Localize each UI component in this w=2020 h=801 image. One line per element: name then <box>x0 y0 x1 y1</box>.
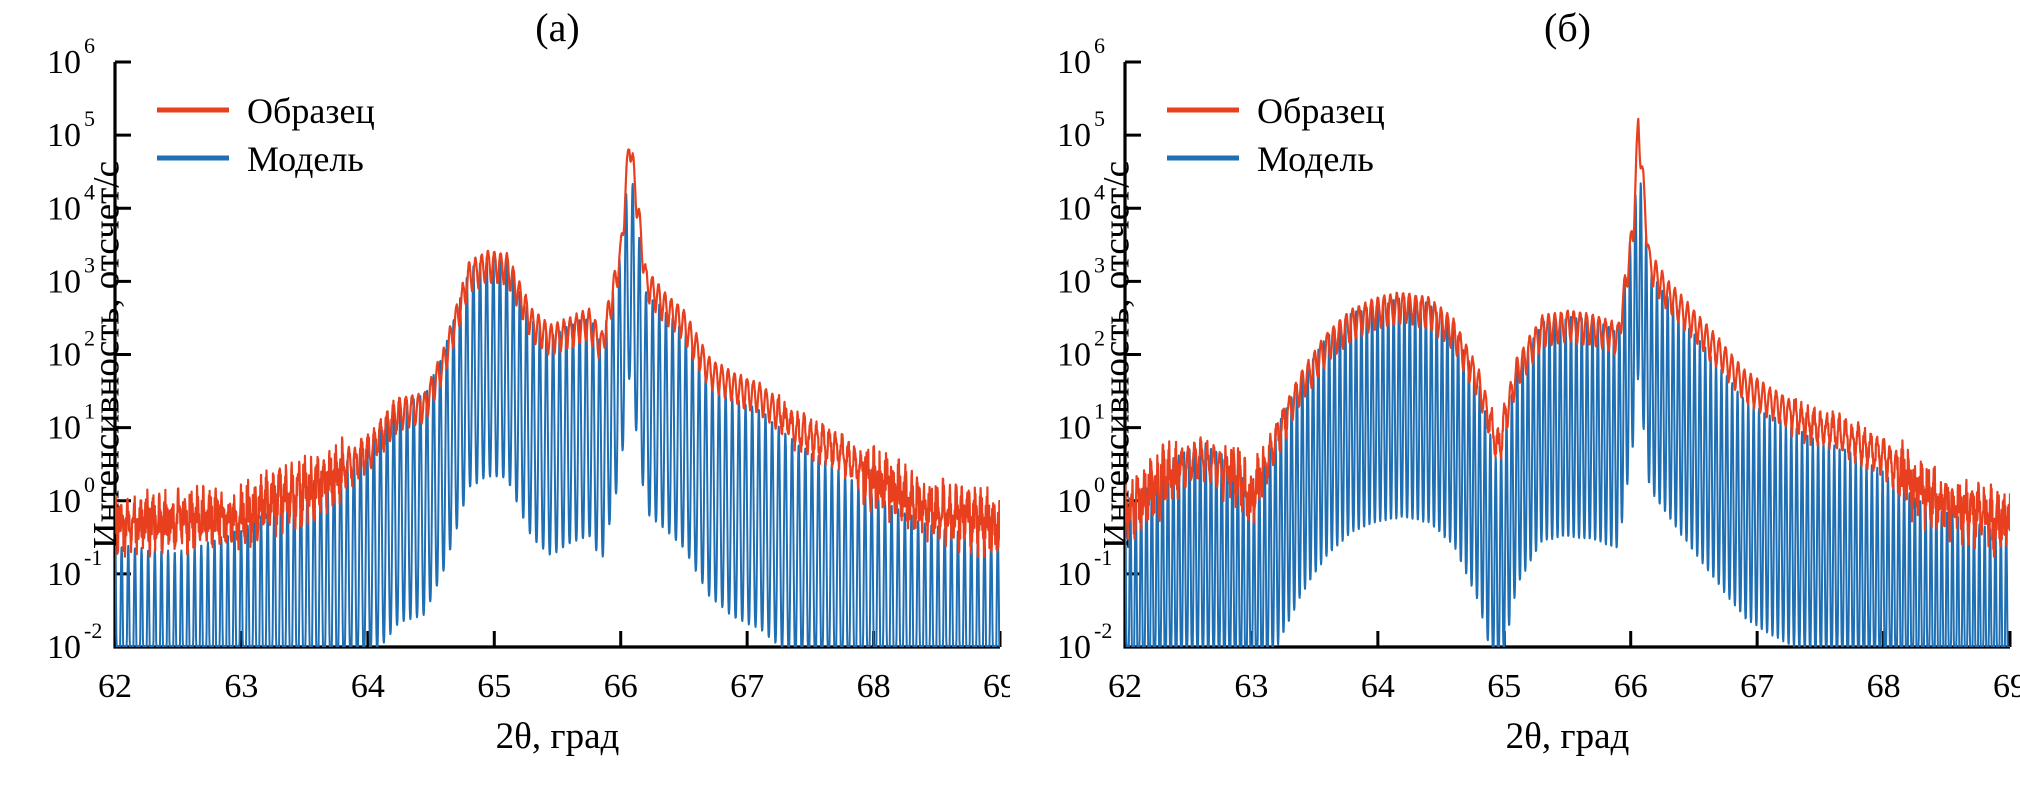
svg-text:10: 10 <box>1057 556 1091 593</box>
series-model <box>1125 183 2010 647</box>
svg-text:1: 1 <box>84 399 95 424</box>
data-curves <box>1125 119 2010 647</box>
figure-root: (a) Интенсивность, отсчет/с 2θ, град 106… <box>0 0 2020 801</box>
legend: ОбразецМодель <box>157 91 375 179</box>
svg-text:62: 62 <box>98 668 132 705</box>
plot-area-b: 10610510410310210110010-110-262636465666… <box>1010 0 2020 801</box>
svg-text:0: 0 <box>1094 472 1105 497</box>
svg-text:62: 62 <box>1108 668 1142 705</box>
svg-text:10: 10 <box>47 337 81 374</box>
svg-text:10: 10 <box>1057 263 1091 300</box>
legend-label-sample: Образец <box>247 91 375 131</box>
svg-text:10: 10 <box>1057 190 1091 227</box>
svg-text:10: 10 <box>1057 44 1091 81</box>
svg-text:10: 10 <box>47 410 81 447</box>
legend-label-model: Модель <box>1257 139 1374 179</box>
svg-text:65: 65 <box>477 668 511 705</box>
svg-text:6: 6 <box>1094 33 1105 58</box>
svg-text:68: 68 <box>857 668 891 705</box>
series-model <box>115 184 1000 647</box>
svg-text:10: 10 <box>47 556 81 593</box>
svg-text:10: 10 <box>1057 410 1091 447</box>
svg-text:-1: -1 <box>1094 545 1112 570</box>
svg-text:10: 10 <box>47 190 81 227</box>
svg-text:-1: -1 <box>84 545 102 570</box>
svg-text:5: 5 <box>84 106 95 131</box>
svg-text:64: 64 <box>1361 668 1395 705</box>
svg-text:4: 4 <box>1094 179 1105 204</box>
svg-text:1: 1 <box>1094 399 1105 424</box>
svg-text:3: 3 <box>84 252 95 277</box>
svg-text:63: 63 <box>224 668 258 705</box>
svg-text:69: 69 <box>1993 668 2020 705</box>
legend: ОбразецМодель <box>1167 91 1385 179</box>
svg-text:10: 10 <box>1057 629 1091 666</box>
legend-label-model: Модель <box>247 139 364 179</box>
y-tick-group: 10610510410310210110010-110-2 <box>1057 33 1141 666</box>
svg-text:-2: -2 <box>1094 618 1112 643</box>
y-tick-group: 10610510410310210110010-110-2 <box>47 33 131 666</box>
svg-text:67: 67 <box>1740 668 1774 705</box>
svg-text:10: 10 <box>1057 483 1091 520</box>
svg-text:69: 69 <box>983 668 1010 705</box>
svg-text:66: 66 <box>1614 668 1648 705</box>
svg-text:10: 10 <box>1057 117 1091 154</box>
svg-text:10: 10 <box>47 44 81 81</box>
svg-text:66: 66 <box>604 668 638 705</box>
svg-text:67: 67 <box>730 668 764 705</box>
svg-text:63: 63 <box>1234 668 1268 705</box>
plot-area-a: 10610510410310210110010-110-262636465666… <box>0 0 1010 801</box>
data-curves <box>115 149 1000 647</box>
legend-label-sample: Образец <box>1257 91 1385 131</box>
svg-text:6: 6 <box>84 33 95 58</box>
svg-text:0: 0 <box>84 472 95 497</box>
svg-text:10: 10 <box>47 629 81 666</box>
svg-text:10: 10 <box>1057 337 1091 374</box>
svg-text:10: 10 <box>47 117 81 154</box>
svg-text:10: 10 <box>47 263 81 300</box>
svg-text:5: 5 <box>1094 106 1105 131</box>
chart-panel-b: (б) Интенсивность, отсчет/с 2θ, град 106… <box>1010 0 2020 801</box>
svg-text:3: 3 <box>1094 252 1105 277</box>
svg-text:2: 2 <box>84 326 95 351</box>
svg-text:64: 64 <box>351 668 385 705</box>
svg-text:-2: -2 <box>84 618 102 643</box>
svg-text:2: 2 <box>1094 326 1105 351</box>
svg-text:68: 68 <box>1867 668 1901 705</box>
svg-text:4: 4 <box>84 179 95 204</box>
chart-panel-a: (a) Интенсивность, отсчет/с 2θ, град 106… <box>0 0 1010 801</box>
svg-text:10: 10 <box>47 483 81 520</box>
svg-text:65: 65 <box>1487 668 1521 705</box>
